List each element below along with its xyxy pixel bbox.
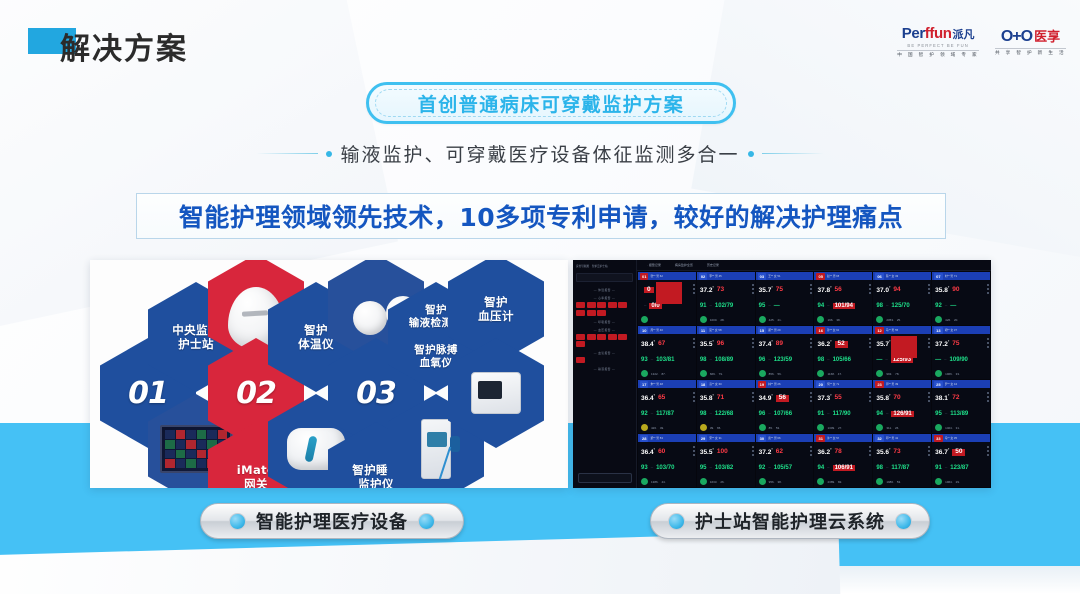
alarm-chip[interactable] — [576, 341, 585, 347]
bed-card[interactable]: 11吴** 女 5835.5°9698—108/89669.79. — [697, 326, 755, 379]
monitor-cell — [186, 440, 196, 449]
dashboard-call-button[interactable] — [578, 473, 632, 483]
bed-status-face-icon — [935, 316, 942, 323]
alarm-chip[interactable] — [587, 310, 596, 316]
bed-card[interactable]: 05赵** 男 6837.8°5694—101/94196.38. — [814, 272, 872, 325]
bed-card[interactable]: 02李** 男 4537.2°7391—102/791000.28. — [697, 272, 755, 325]
bed-infusion-volume: 1309. — [827, 426, 835, 430]
bed-blood-pressure-value: 117/87 — [891, 465, 909, 471]
bed-card[interactable]: 06陈** 女 3337.0°9498—125/702053.25. — [873, 272, 931, 325]
bed-card[interactable]: 17朱** 男 4836.4°6592—117/87426.49. — [638, 380, 696, 433]
bed-number: 32 — [875, 435, 883, 442]
bed-spo2-value: 91 — [935, 465, 942, 471]
bed-card-body: 37.0°9498—125/70 — [873, 280, 931, 316]
bed-card-footer: 426.20. — [932, 316, 990, 325]
bed-card[interactable]: 10周** 男 4038.4°6793—103/811322.87. — [638, 326, 696, 379]
bed-status-face-icon — [817, 478, 824, 485]
bed-menu-dots-icon[interactable] — [928, 446, 930, 456]
bed-card[interactable]: 30唐** 男 6637.2°6292—105/57956.38. — [756, 434, 814, 487]
bed-card-body: 37.3°5591—117/90 — [814, 388, 872, 424]
nurse-station-dashboard-panel: 床位导航图 智护云护士站 — 体温报警 —— 心率报警 —— 呼吸报警 —— 血… — [573, 260, 991, 488]
bed-card-body: 35.6°7398—117/87 — [873, 442, 931, 478]
bed-card-body: 36.7°5091—123/87 — [932, 442, 990, 478]
bed-patient-name: 邓** 男 41 — [886, 436, 898, 440]
bed-menu-dot — [810, 346, 812, 348]
bed-status-face-icon — [759, 424, 766, 431]
bed-status-face-icon — [876, 424, 883, 431]
bed-menu-dot — [869, 284, 871, 286]
bed-menu-dot — [810, 446, 812, 448]
bed-heart-rate-value: 94 — [893, 287, 900, 294]
bed-infusion-rate: 53. — [776, 426, 780, 430]
bed-menu-dot — [693, 400, 695, 402]
bed-card-header: 13胡** 女 37 — [932, 326, 990, 334]
bed-vitals-row-spo2-bp: 91—117/90 — [817, 411, 869, 417]
bed-menu-dot — [987, 400, 989, 402]
bed-blood-pressure-value: 123/59 — [774, 357, 792, 363]
bed-vitals-row-temp-hr: 35.8°71 — [700, 395, 752, 403]
bed-vitals-row-temp-hr: 35.7°75 — [759, 287, 811, 295]
bed-infusion-volume: 1966. — [945, 372, 953, 376]
bed-vitals-separator: — — [827, 305, 829, 307]
bed-menu-dot — [869, 338, 871, 340]
bed-menu-dots-icon[interactable] — [693, 338, 695, 348]
bed-vitals-separator: — — [710, 467, 712, 469]
sidebar-tab-bedmap[interactable]: 床位导航图 — [576, 264, 589, 268]
bed-card-body: 38.1°7295—113/89 — [932, 388, 990, 424]
slide-header: 解决方案 Perffun派凡 BE PERFECT BE FUN 中 国 智 护… — [0, 0, 1080, 76]
bed-card[interactable]: 19林** 男 2634.9°5696—107/6685.53. — [756, 380, 814, 433]
bed-patient-name: 何** 女 72 — [827, 382, 839, 386]
bed-card[interactable]: 16孙** 女 6436.2°5298—105/661168.47. — [814, 326, 872, 379]
bed-infusion-rate: 56. — [778, 372, 782, 376]
bed-menu-dots-icon[interactable] — [752, 338, 754, 348]
bed-vitals-row-spo2-bp: 92—117/87 — [641, 411, 693, 417]
bed-heart-rate-value: 56 — [835, 287, 842, 294]
perffun-logo-wordmark: Perffun派凡 — [897, 26, 979, 42]
bed-vitals-row-spo2-bp: 98—117/87 — [876, 465, 928, 471]
bed-menu-dot — [928, 346, 930, 348]
bed-vitals-row-spo2-bp: 94—126/91 — [876, 411, 928, 417]
bed-vitals-row-temp-hr: 38.4°67 — [641, 341, 693, 349]
bed-vitals-row-spo2-bp: 94—106/91 — [817, 465, 869, 471]
alarm-chip[interactable] — [576, 302, 585, 308]
alarm-chip[interactable] — [597, 302, 606, 308]
bed-vitals-separator: — — [886, 413, 888, 415]
bed-number: 15 — [758, 327, 766, 334]
bed-infusion-volume: 1322. — [651, 372, 659, 376]
bed-spo2-value: 92 — [759, 465, 766, 471]
bed-card[interactable]: 18高** 女 6035.8°7198—122/6839.65. — [697, 380, 755, 433]
bed-card-header: 25罗** 女 44 — [932, 380, 990, 388]
bed-card-header: 05赵** 男 68 — [814, 272, 872, 280]
bed-menu-dots-icon[interactable] — [987, 338, 989, 348]
bed-heart-rate-value: 73 — [893, 449, 900, 456]
bed-infusion-rate: 44. — [662, 480, 666, 484]
caption-dot-left — [229, 513, 246, 530]
bed-vitals-row-spo2-bp: 94—101/94 — [817, 303, 869, 309]
bed-card[interactable]: 20何** 女 7237.3°5591—117/901309.27. — [814, 380, 872, 433]
bed-patient-name: 王** 女 51 — [768, 274, 780, 278]
bed-card-header: 03王** 女 51 — [756, 272, 814, 280]
bed-menu-dot — [869, 396, 871, 398]
bed-card-body: 34.9°5696—107/66 — [756, 388, 814, 424]
bed-card-body: 36.4°6093—103/70 — [638, 442, 696, 478]
bed-heart-rate-value: 67 — [658, 341, 665, 348]
bed-card[interactable]: 01张** 男 620—0/0 — [638, 272, 696, 325]
dashboard-sidebar-tabs[interactable]: 床位导航图 智护云护士站 — [576, 264, 633, 268]
bed-blood-pressure-value: 117/90 — [833, 411, 851, 417]
bed-menu-dots-icon[interactable] — [987, 446, 989, 456]
alarm-group-title: — 心率报警 — — [576, 296, 633, 300]
bed-infusion-rate: 87. — [662, 372, 666, 376]
bed-spo2-value: 98 — [876, 465, 883, 471]
bed-menu-dot — [810, 450, 812, 452]
alarm-chip[interactable] — [587, 302, 596, 308]
bed-menu-dots-icon[interactable] — [869, 284, 871, 294]
bed-vitals-row-spo2-bp: 95—113/89 — [935, 411, 987, 417]
dashboard-topbar: · 报警记录 病房监护全览 历史记录 — [637, 260, 991, 271]
dashboard-search-input[interactable] — [576, 273, 633, 282]
bed-menu-dots-icon[interactable] — [752, 284, 754, 294]
bed-card[interactable]: 15郑** 男 2937.4°8996—123/59856.56. — [756, 326, 814, 379]
alarm-chip[interactable] — [576, 310, 585, 316]
bed-menu-dot — [987, 396, 989, 398]
bed-menu-dots-icon[interactable] — [810, 284, 812, 294]
bed-card-footer: 85.53. — [756, 424, 814, 433]
sidebar-tab-cloudstation[interactable]: 智护云护士站 — [592, 264, 608, 268]
bed-number: 07 — [934, 273, 942, 280]
bed-patient-name: 赵** 男 68 — [827, 274, 839, 278]
bed-number: 03 — [758, 273, 766, 280]
bed-menu-dots-icon[interactable] — [693, 446, 695, 456]
bed-infusion-rate: 26. — [895, 426, 899, 430]
bed-menu-dots-icon[interactable] — [869, 392, 871, 402]
bed-vitals-separator: — — [651, 467, 653, 469]
bed-menu-dot — [810, 288, 812, 290]
bed-card-header: 06陈** 女 33 — [873, 272, 931, 280]
bed-card[interactable]: 29宋** 女 3135.5°10095—103/821633.26. — [697, 434, 755, 487]
bed-vitals-row-spo2-bp: 98—125/70 — [876, 303, 928, 309]
bed-menu-dots-icon[interactable] — [693, 392, 695, 402]
bed-blood-pressure-value: 105/66 — [833, 357, 851, 363]
topbar-item-history[interactable]: 历史记录 — [707, 263, 719, 267]
bed-patient-name: 孙** 女 64 — [827, 328, 839, 332]
alarm-group-title: — 血氧报警 — — [576, 351, 633, 355]
bed-menu-dots-icon[interactable] — [987, 284, 989, 294]
alarm-chip[interactable] — [587, 334, 596, 340]
bed-vitals-row-spo2-bp: ——125/93 — [876, 357, 928, 363]
bed-status-face-icon — [935, 370, 942, 377]
bed-menu-dots-icon[interactable] — [928, 284, 930, 294]
bed-infusion-rate: 38. — [836, 318, 840, 322]
perffun-logo-per: Per — [902, 25, 925, 42]
monitor-cell — [197, 440, 207, 449]
alarm-chip[interactable] — [608, 334, 617, 340]
dashboard: 床位导航图 智护云护士站 — 体温报警 —— 心率报警 —— 呼吸报警 —— 血… — [573, 260, 991, 488]
bed-number: 12 — [875, 327, 883, 334]
bed-status-face-icon — [876, 370, 883, 377]
bed-menu-dot — [928, 396, 930, 398]
subline-dot-right — [748, 151, 754, 157]
bed-patient-name: 吴** 女 58 — [709, 328, 721, 332]
bed-menu-dot — [693, 396, 695, 398]
bed-menu-dot — [693, 284, 695, 286]
caption-dot-left — [668, 513, 685, 530]
bed-spo2-value: 94 — [817, 465, 824, 471]
bed-menu-dot — [987, 450, 989, 452]
bed-menu-dot — [752, 338, 754, 340]
bed-card[interactable]: 28梁** 男 5336.4°6093—103/701386.44. — [638, 434, 696, 487]
topbar-item-ward-overview[interactable]: 病房监护全览 — [675, 263, 693, 267]
bed-spo2-value: 96 — [759, 411, 766, 417]
bed-menu-dot — [693, 392, 695, 394]
bed-infusion-volume: 1168. — [827, 372, 834, 376]
bed-menu-dots-icon[interactable] — [810, 392, 812, 402]
bed-status-face-icon — [876, 478, 883, 485]
bed-vitals-row-temp-hr: 36.2°52 — [817, 341, 869, 349]
perffun-logo-rule — [897, 50, 979, 51]
bed-temperature-value: 37.8° — [817, 287, 831, 295]
bed-blood-pressure-value: — — [774, 303, 780, 309]
bed-heart-rate-value: 50 — [952, 449, 965, 456]
bed-spo2-value: 92 — [935, 303, 942, 309]
bed-infusion-volume: 856. — [769, 372, 775, 376]
bed-menu-dot — [987, 454, 989, 456]
alarm-chip[interactable] — [608, 302, 617, 308]
bed-menu-dot — [752, 292, 754, 294]
bed-card-footer — [638, 316, 696, 325]
bed-heart-rate-value: 90 — [952, 287, 959, 294]
bed-number: 29 — [699, 435, 707, 442]
bed-card-header: 33冯** 女 35 — [932, 434, 990, 442]
bed-menu-dots-icon[interactable] — [752, 446, 754, 456]
bed-card-footer: 956.38. — [756, 478, 814, 487]
bed-vitals-row-temp-hr: 35.5°100 — [700, 449, 752, 457]
bed-number: 33 — [934, 435, 942, 442]
bed-temperature-value: 35.5° — [700, 449, 714, 457]
bed-menu-dots-icon[interactable] — [869, 446, 871, 456]
page-title: 解决方案 — [60, 24, 188, 68]
perffun-logo-footer: 中 国 智 护 领 域 专 家 — [897, 52, 979, 58]
bed-spo2-value: 96 — [759, 357, 766, 363]
bed-card[interactable]: 07刘** 男 7135.8°9092——426.20. — [932, 272, 990, 325]
bed-menu-dot — [752, 284, 754, 286]
bed-blood-pressure-value: 108/89 — [715, 357, 733, 363]
bed-temperature-value: 37.4° — [759, 341, 773, 349]
bed-card[interactable]: 13胡** 女 3737.2°75——109/901966.33. — [932, 326, 990, 379]
bed-status-face-icon — [759, 370, 766, 377]
bed-card-footer: 425.21. — [756, 316, 814, 325]
bed-temperature-value: 36.7° — [935, 449, 949, 457]
alarm-chip[interactable] — [597, 334, 606, 340]
bed-menu-dots-icon[interactable] — [869, 338, 871, 348]
infusion-pump-icon — [421, 419, 451, 479]
bed-menu-dot — [752, 392, 754, 394]
bed-infusion-rate: 78. — [895, 372, 899, 376]
perffun-logo: Perffun派凡 BE PERFECT BE FUN 中 国 智 护 领 域 … — [897, 26, 979, 58]
bed-card[interactable]: 12马** 男 5535.7°143——125/93993.78. — [873, 326, 931, 379]
bed-menu-dots-icon[interactable] — [928, 392, 930, 402]
hex-03-number: 03 — [356, 376, 396, 411]
oho-logo-wordmark: O+O医享 — [995, 26, 1066, 46]
bed-card-header: 02李** 男 45 — [697, 272, 755, 280]
bed-menu-dot — [752, 400, 754, 402]
bed-temperature-value: 36.2° — [817, 341, 831, 349]
bed-vitals-separator: — — [768, 413, 770, 415]
bed-card-footer: 426.49. — [638, 424, 696, 433]
bed-patient-name: 朱** 男 48 — [650, 382, 662, 386]
bed-blood-pressure-value: 103/82 — [715, 465, 733, 471]
bed-vitals-separator: — — [768, 467, 770, 469]
bed-blood-pressure-value: 113/89 — [950, 411, 968, 417]
subline-rule-right — [762, 153, 824, 154]
alarm-group-title: — 体温报警 — — [576, 288, 633, 292]
bed-menu-dots-icon[interactable] — [752, 392, 754, 402]
bed-card[interactable]: 31许** 女 5736.2°7894—106/912389.82. — [814, 434, 872, 487]
bed-card-footer: 2389.82. — [814, 478, 872, 487]
bed-number: 05 — [816, 273, 824, 280]
bed-vitals-separator: — — [827, 467, 829, 469]
bed-menu-dots-icon[interactable] — [987, 392, 989, 402]
bed-status-face-icon — [700, 370, 707, 377]
bed-number: 17 — [640, 381, 648, 388]
alarm-chip[interactable] — [576, 357, 585, 363]
bed-card[interactable]: 32邓** 男 4135.6°7398—117/871986.53. — [873, 434, 931, 487]
bed-number: 19 — [758, 381, 766, 388]
bed-infusion-rate: 28. — [720, 318, 724, 322]
bed-card-header: 28梁** 男 53 — [638, 434, 696, 442]
bed-card-header: 17朱** 男 48 — [638, 380, 696, 388]
hexagon-diagram: 01 中央监护护士站 — [90, 260, 568, 488]
bed-number: 02 — [699, 273, 707, 280]
bed-temperature-value: 36.4° — [641, 395, 655, 403]
alarm-chip[interactable] — [576, 334, 585, 340]
bed-card[interactable]: 33冯** 女 3536.7°5091—123/871964.29. — [932, 434, 990, 487]
bed-card[interactable]: 25罗** 女 4438.1°7295—113/891404.31. — [932, 380, 990, 433]
bed-card-footer: 1404.31. — [932, 424, 990, 433]
bed-card-body: 35.8°9092—— — [932, 280, 990, 316]
dashboard-alarm-groups: — 体温报警 —— 心率报警 —— 呼吸报警 —— 血压报警 —— 血氧报警 —… — [576, 288, 633, 371]
bed-infusion-volume: 85. — [769, 426, 773, 430]
bed-vitals-separator: — — [710, 305, 712, 307]
alarm-chip[interactable] — [597, 310, 606, 316]
bed-status-face-icon — [700, 316, 707, 323]
bed-menu-dot — [987, 288, 989, 290]
bed-status-face-icon — [817, 424, 824, 431]
bed-vitals-separator: — — [886, 467, 888, 469]
bed-menu-dots-icon[interactable] — [810, 446, 812, 456]
bed-menu-dots-icon[interactable] — [693, 284, 695, 294]
bed-patient-name: 郑** 男 29 — [768, 328, 780, 332]
bed-vitals-row-spo2-bp: 92—— — [935, 303, 987, 309]
bed-blood-pressure-value: 105/57 — [774, 465, 792, 471]
monitor-cell — [218, 430, 228, 439]
monitor-cell — [197, 459, 207, 468]
bed-card[interactable]: 03王** 女 5135.7°7595——425.21. — [756, 272, 814, 325]
logo-group: Perffun派凡 BE PERFECT BE FUN 中 国 智 护 领 域 … — [897, 26, 1066, 58]
bed-menu-dot — [987, 346, 989, 348]
bed-infusion-volume: 1964. — [945, 480, 953, 484]
bed-blood-pressure-value: 125/70 — [891, 303, 909, 309]
bed-vitals-separator: — — [945, 467, 947, 469]
bed-card-header: 07刘** 男 71 — [932, 272, 990, 280]
bed-vitals-separator: — — [644, 305, 646, 307]
alarm-group: — 血压报警 — — [576, 328, 633, 348]
bed-number: 31 — [816, 435, 824, 442]
bed-infusion-volume: 426. — [945, 318, 951, 322]
oho-logo-cn: 医享 — [1032, 29, 1060, 44]
bed-heart-rate-value: 73 — [717, 287, 724, 294]
bed-patient-name: 陈** 女 33 — [886, 274, 898, 278]
bed-heart-rate-value: 96 — [717, 341, 724, 348]
bed-infusion-rate: 38. — [778, 480, 782, 484]
monitor-cell — [165, 450, 175, 459]
bed-vitals-row-spo2-bp: 98—122/68 — [700, 411, 752, 417]
caption-cloud-system: 护士站智能护理云系统 — [650, 503, 930, 539]
bed-vitals-row-spo2-bp: 98—108/89 — [700, 357, 752, 363]
bed-menu-dot — [928, 342, 930, 344]
bed-menu-dot — [869, 346, 871, 348]
bed-spo2-value: 91 — [817, 411, 824, 417]
monitor-cell — [186, 430, 196, 439]
bed-heart-rate-value: 55 — [835, 395, 842, 402]
bed-card[interactable]: 23郭** 男 3935.8°7094—126/91311.26. — [873, 380, 931, 433]
topbar-item-alarm-log[interactable]: · 报警记录 — [647, 263, 661, 267]
bed-spo2-value: 94 — [876, 411, 883, 417]
bed-infusion-volume: 311. — [886, 426, 892, 430]
bed-heart-rate-value: 72 — [952, 395, 959, 402]
bed-vitals-row-temp-hr: 34.9°56 — [759, 395, 811, 403]
bed-temperature-value: 35.7° — [759, 287, 773, 295]
bed-menu-dot — [928, 400, 930, 402]
bed-menu-dot — [693, 450, 695, 452]
bed-card-body: 37.8°5694—101/94 — [814, 280, 872, 316]
monitor-cell — [207, 430, 217, 439]
monitor-cell — [176, 430, 186, 439]
bed-menu-dot — [928, 338, 930, 340]
bed-temperature-value: 37.2° — [759, 449, 773, 457]
bed-vitals-row-spo2-bp: 91—102/79 — [700, 303, 752, 309]
bed-card-footer: 1168.47. — [814, 370, 872, 379]
bed-menu-dot — [810, 342, 812, 344]
alarm-group: — 血氧报警 — — [576, 351, 633, 363]
bed-vitals-row-temp-hr: 37.4°89 — [759, 341, 811, 349]
bed-spo2-value: 94 — [817, 303, 824, 309]
bed-card-header: 32邓** 男 41 — [873, 434, 931, 442]
bed-status-face-icon — [641, 478, 648, 485]
bed-status-face-icon — [700, 424, 707, 431]
alarm-chip[interactable] — [618, 334, 627, 340]
bed-infusion-volume: 2053. — [886, 318, 894, 322]
bed-menu-dot — [928, 450, 930, 452]
bed-menu-dots-icon[interactable] — [810, 338, 812, 348]
blood-pressure-monitor-icon — [471, 372, 521, 414]
bed-card-header: 16孙** 女 64 — [814, 326, 872, 334]
bed-menu-dot — [869, 392, 871, 394]
bed-infusion-rate: 79. — [719, 372, 723, 376]
bed-vitals-row-spo2-bp: 92—105/57 — [759, 465, 811, 471]
bed-card-footer: 1322.87. — [638, 370, 696, 379]
bed-card-footer: 196.38. — [814, 316, 872, 325]
bed-vitals-row-spo2-bp: 95—103/82 — [700, 465, 752, 471]
bed-menu-dot — [752, 450, 754, 452]
bed-infusion-rate: 47. — [838, 372, 842, 376]
alarm-chip[interactable] — [618, 302, 627, 308]
bed-card-footer: 1386.44. — [638, 478, 696, 487]
caption-dot-right — [418, 513, 435, 530]
bed-menu-dots-icon[interactable] — [928, 338, 930, 348]
